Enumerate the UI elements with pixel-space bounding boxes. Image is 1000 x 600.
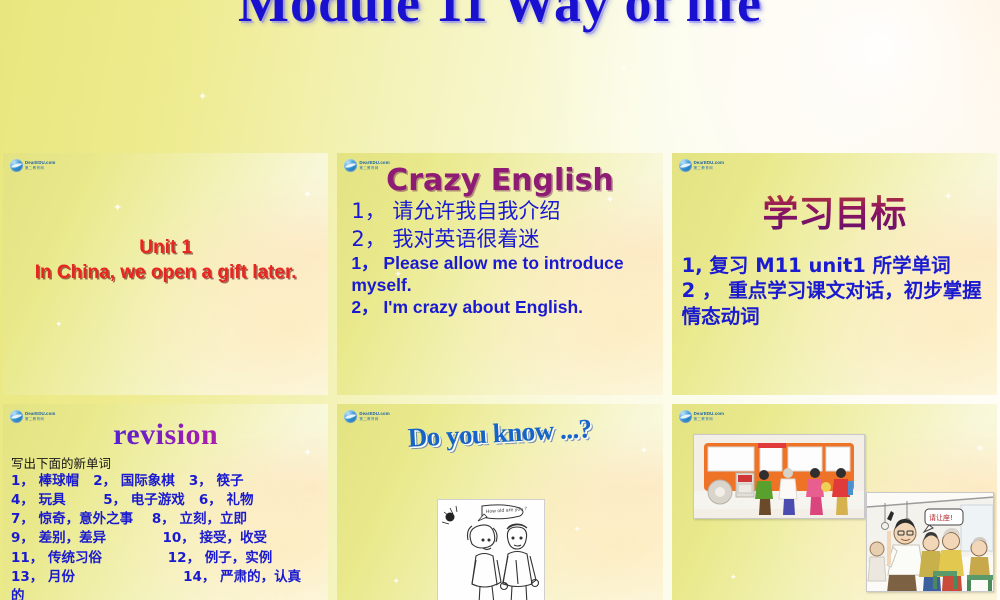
sparkle-icon: ✦ <box>198 90 207 103</box>
panel-crazy-english[interactable]: DearEDU.com 第二教育网 ✦ ✦ Crazy English 1， 请… <box>337 153 662 395</box>
panel-row-top: DearEDU.com 第二教育网 ✦ ✦ ✦ Unit 1 In China,… <box>0 153 1000 395</box>
bus-boarding-image <box>693 434 865 519</box>
sparkle-icon: ✦ <box>303 188 312 201</box>
globe-icon <box>10 159 23 172</box>
page-title: Module 11 Way of life <box>0 0 1000 34</box>
logo-name: DearEDU.com <box>694 412 724 416</box>
sparkle-icon: ✦ <box>976 442 985 455</box>
panel-revision[interactable]: DearEDU.com 第二教育网 ✦ revision 写出下面的新单词 1，… <box>3 404 328 600</box>
dearedu-logo: DearEDU.com 第二教育网 <box>10 410 55 423</box>
revision-row: 的 <box>3 587 328 600</box>
logo-name: DearEDU.com <box>694 161 724 165</box>
globe-icon <box>679 410 692 423</box>
goals-title: 学习目标 <box>672 185 997 237</box>
unit-subheading: In China, we open a gift later. <box>3 262 328 284</box>
logo-sub: 第二教育网 <box>694 167 724 170</box>
unit-heading: Unit 1 <box>3 233 328 262</box>
logo-sub: 第二教育网 <box>359 167 389 170</box>
sparkle-icon: ✦ <box>620 64 628 75</box>
revision-row: 7， 惊奇，意外之事 8， 立刻，立即 <box>3 510 328 529</box>
goal-line: 1, 复习 M11 unit1 所学单词 <box>672 253 997 278</box>
globe-icon <box>679 159 692 172</box>
dearedu-logo: DearEDU.com 第二教育网 <box>344 159 389 172</box>
revision-prompt: 写出下面的新单词 <box>3 453 328 472</box>
revision-row: 13， 月份 14， 严肃的，认真 <box>3 568 328 587</box>
panel-unit-1[interactable]: DearEDU.com 第二教育网 ✦ ✦ ✦ Unit 1 In China,… <box>3 153 328 395</box>
panel-row-bottom: DearEDU.com 第二教育网 ✦ revision 写出下面的新单词 1，… <box>0 404 1000 600</box>
dearedu-logo: DearEDU.com 第二教育网 <box>10 159 55 172</box>
presentation-slide: Module 11 Way of life ✦ ✦ DearEDU.com 第二… <box>0 0 1000 600</box>
logo-name: DearEDU.com <box>25 412 55 416</box>
crazy-chinese-line: 1， 请允许我自我介绍 <box>337 198 662 226</box>
logo-sub: 第二教育网 <box>359 418 389 421</box>
dearedu-logo: DearEDU.com 第二教育网 <box>679 410 724 423</box>
revision-row: 9， 差别，差异 10， 接受，收受 <box>3 529 328 548</box>
panel-learning-goals[interactable]: DearEDU.com 第二教育网 ✦ 学习目标 1, 复习 M11 unit1… <box>672 153 997 395</box>
dearedu-logo: DearEDU.com 第二教育网 <box>679 159 724 172</box>
svg-text:请让座!: 请让座! <box>929 513 953 522</box>
logo-sub: 第二教育网 <box>25 418 55 421</box>
globe-icon <box>344 159 357 172</box>
globe-icon <box>10 410 23 423</box>
globe-icon <box>344 410 357 423</box>
sparkle-icon: ✦ <box>639 444 648 457</box>
sparkle-icon: ✦ <box>392 576 400 587</box>
revision-row: 11， 传统习俗 12， 例子，实例 <box>3 549 328 568</box>
revision-row: 4， 玩具 5， 电子游戏 6， 礼物 <box>3 491 328 510</box>
logo-name: DearEDU.com <box>359 412 389 416</box>
logo-sub: 第二教育网 <box>694 418 724 421</box>
logo-name: DearEDU.com <box>359 161 389 165</box>
crazy-chinese-line: 2， 我对英语很着迷 <box>337 226 662 254</box>
dearedu-logo: DearEDU.com 第二教育网 <box>344 410 389 423</box>
panel-illustrations[interactable]: DearEDU.com 第二教育网 ✦ ✦ <box>672 404 997 600</box>
logo-sub: 第二教育网 <box>25 167 55 170</box>
sparkle-icon: ✦ <box>573 524 581 535</box>
panel-do-you-know[interactable]: DearEDU.com 第二教育网 ✦ ✦ ✦ Do you know ...?… <box>337 404 662 600</box>
sparkle-icon: ✦ <box>55 319 63 330</box>
conversation-cartoon-image: How old are you ? <box>437 499 545 600</box>
crazy-english-line: 2， I'm crazy about English. <box>337 297 662 319</box>
crazy-english-line: 1， Please allow me to introduce myself. <box>337 253 662 297</box>
sparkle-icon: ✦ <box>113 201 122 214</box>
crowded-bus-image: 请让座! <box>866 492 994 592</box>
goal-line: 2 ， 重点学习课文对话，初步掌握情态动词 <box>672 278 997 329</box>
revision-title: revision <box>3 418 328 452</box>
sparkle-icon: ✦ <box>730 572 738 583</box>
revision-row: 1， 棒球帽 2， 国际象棋 3， 筷子 <box>3 472 328 491</box>
logo-name: DearEDU.com <box>25 161 55 165</box>
